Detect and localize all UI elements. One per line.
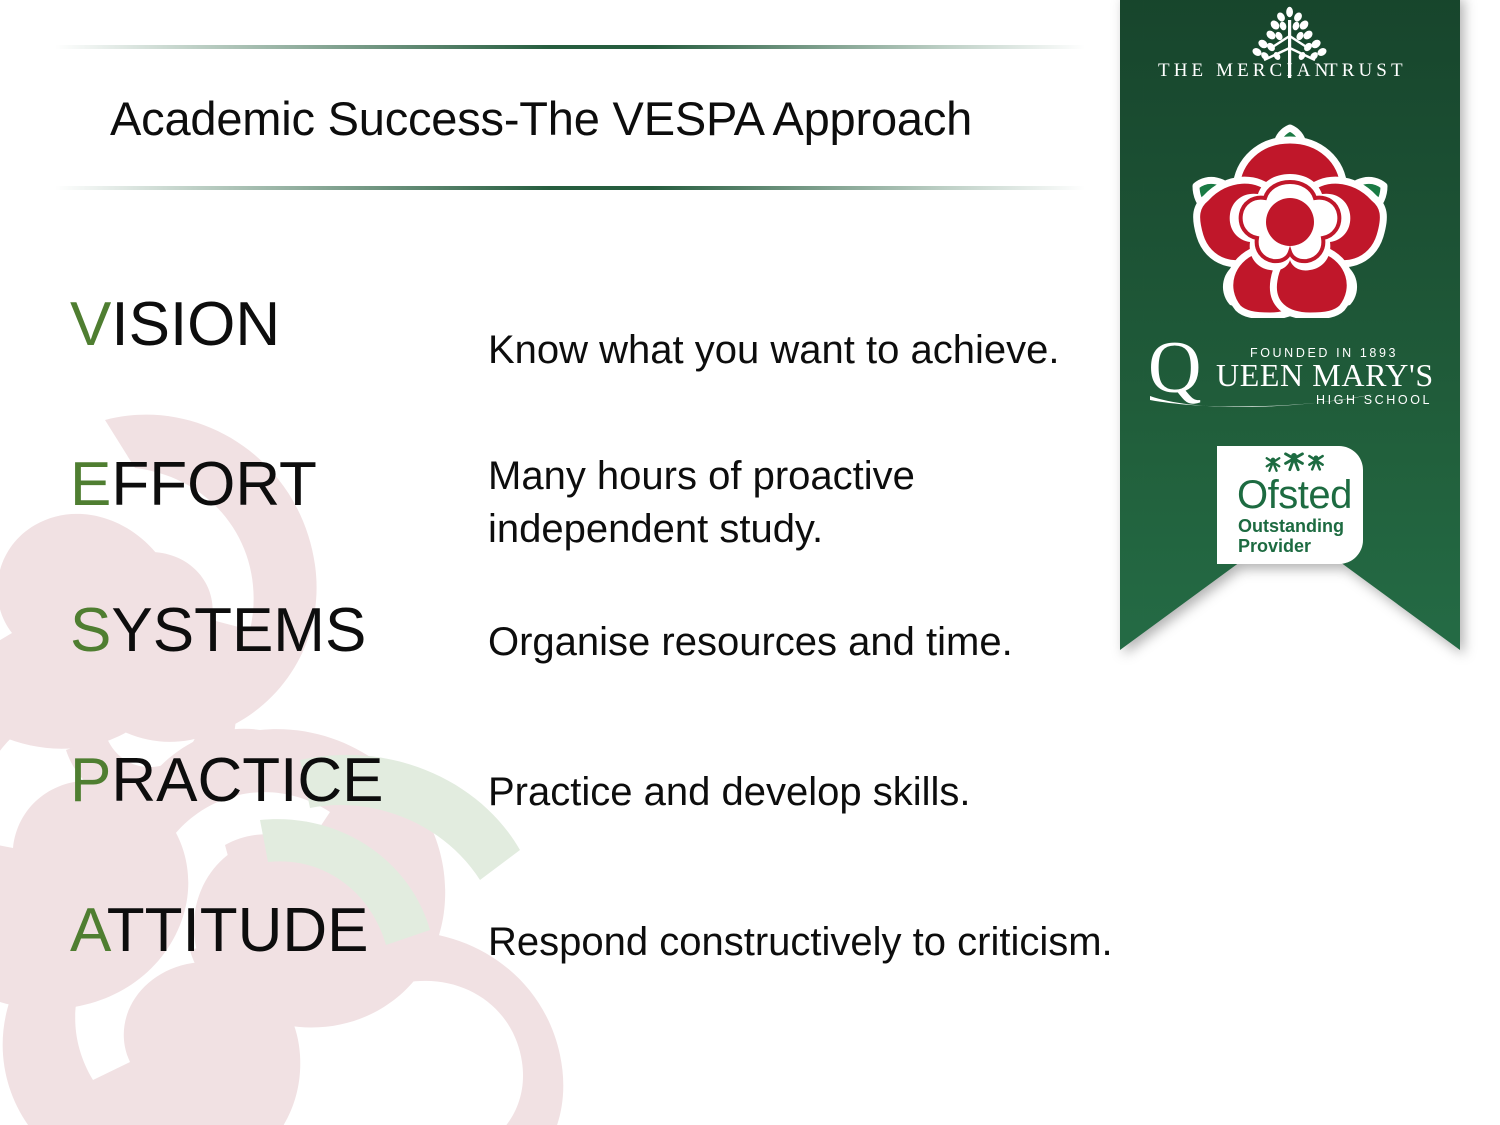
vespa-rest-systems: YSTEMS xyxy=(111,596,366,665)
vespa-initial-v: V xyxy=(70,290,111,359)
divider-top xyxy=(55,45,1085,49)
trust-name-right: TRUST xyxy=(1326,60,1407,81)
queen-marys-subtitle: HIGH SCHOOL xyxy=(1316,393,1432,407)
vespa-description-attitude: Respond constructively to criticism. xyxy=(488,916,1248,969)
mercian-trust-logo: THE MERCIAN TRUST xyxy=(1138,2,1442,94)
vespa-initial-e: E xyxy=(70,450,111,519)
ofsted-line2: Provider xyxy=(1238,536,1311,556)
vespa-initial-a: A xyxy=(70,896,107,965)
vespa-word-vision: VISION xyxy=(70,294,280,356)
vespa-initial-s: S xyxy=(70,596,111,665)
school-branding-banner: THE MERCIAN TRUST xyxy=(1120,0,1460,650)
vespa-rest-practice: RACTICE xyxy=(111,746,383,815)
rose-watermark xyxy=(0,300,590,1125)
vespa-initial-p: P xyxy=(70,746,111,815)
queen-marys-initial: Q xyxy=(1148,330,1201,409)
ofsted-wordmark: Ofsted xyxy=(1237,473,1352,517)
queen-marys-name: UEEN MARY'S xyxy=(1216,357,1434,393)
vespa-word-systems: SYSTEMS xyxy=(70,600,366,662)
vespa-rest-attitude: TTITUDE xyxy=(107,896,369,965)
vespa-rest-vision: ISION xyxy=(111,290,280,359)
title-block: Academic Success-The VESPA Approach xyxy=(0,0,1110,210)
divider-bottom xyxy=(55,186,1085,190)
queen-marys-logo: Q FOUNDED IN 1893 UEEN MARY'S HIGH SCHOO… xyxy=(1144,330,1440,412)
vespa-description-vision: Know what you want to achieve. xyxy=(488,324,1088,377)
trust-name-left: THE MERCIAN xyxy=(1158,60,1332,81)
ofsted-line1: Outstanding xyxy=(1238,516,1344,536)
vespa-rest-effort: FFORT xyxy=(111,450,317,519)
banner-content: THE MERCIAN TRUST xyxy=(1120,0,1460,650)
vespa-word-attitude: ATTITUDE xyxy=(70,900,369,962)
page-title: Academic Success-The VESPA Approach xyxy=(110,92,972,146)
vespa-description-effort: Many hours of proactive independent stud… xyxy=(488,450,1088,556)
slide-canvas: Academic Success-The VESPA Approach VISI… xyxy=(0,0,1500,1125)
vespa-description-practice: Practice and develop skills. xyxy=(488,766,1248,819)
vespa-word-practice: PRACTICE xyxy=(70,750,384,812)
vespa-word-effort: EFFORT xyxy=(70,454,317,516)
ofsted-badge: Ofsted Outstanding Provider xyxy=(1217,446,1363,564)
tudor-rose-icon xyxy=(1182,122,1398,318)
